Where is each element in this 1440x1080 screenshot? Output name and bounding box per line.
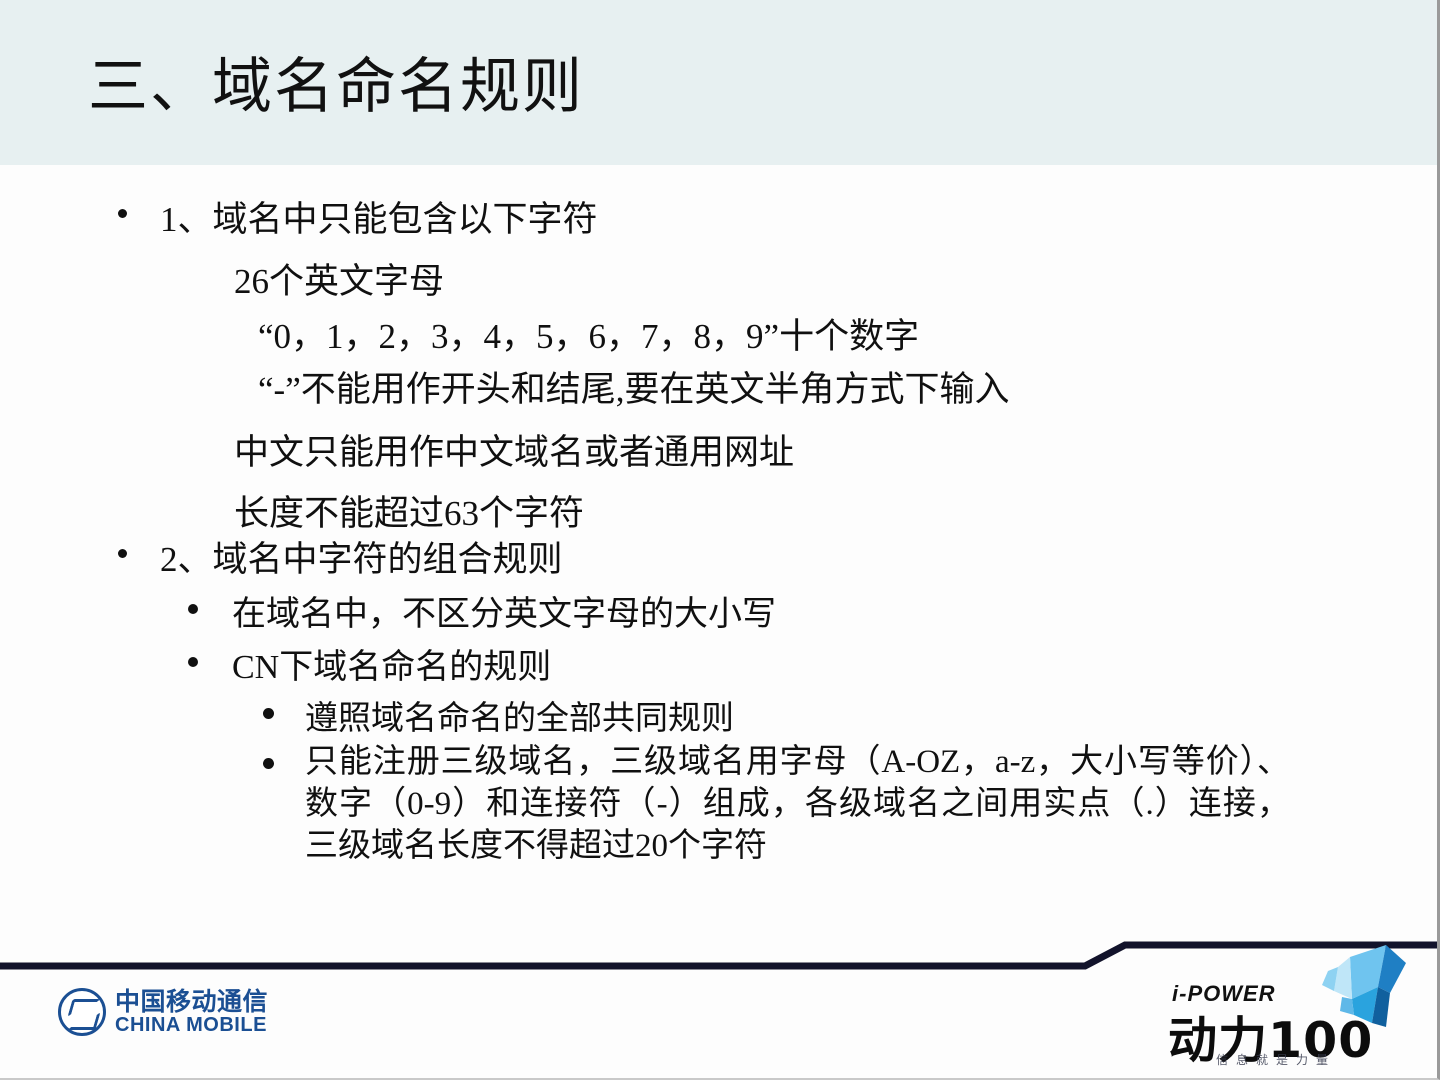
slide: 三、域名命名规则 1、域名中只能包含以下字符 26个英文字母 “0，1，2，3，… (0, 0, 1440, 1080)
ipower-tagline: 信息就是力量 (1216, 1051, 1336, 1068)
bullet-text-common-rules: 遵照域名命名的全部共同规则 (305, 691, 734, 739)
sub-line-hyphen-rule: “-”不能用作开头和结尾,要在英文半角方式下输入 (258, 361, 1009, 412)
china-mobile-wordmark: 中国移动通信 CHINA MOBILE (115, 989, 268, 1035)
ipower-logo: i-POWER 动力100 信息就是力量 (1168, 975, 1428, 1075)
bullet-marker-level1 (118, 549, 127, 558)
bullet-text-third-level-domain: 只能注册三级域名，三级域名用字母（A-OZ，a-z，大小写等价）、数字（0-9）… (305, 741, 1290, 868)
bullet-marker-level3 (263, 708, 274, 719)
bullet-marker-level3 (263, 758, 274, 769)
bullet-marker-level1 (118, 209, 127, 218)
bullet-marker-level2 (188, 604, 198, 614)
slide-body: 1、域名中只能包含以下字符 26个英文字母 “0，1，2，3，4，5，6，7，8… (0, 165, 1440, 930)
sub-line-chinese-usage: 中文只能用作中文域名或者通用网址 (234, 424, 794, 475)
china-mobile-mark-icon (58, 988, 106, 1036)
sub-line-length-63: 长度不能超过63个字符 (234, 485, 584, 536)
china-mobile-name-cn: 中国移动通信 (115, 989, 268, 1015)
bullet-text-case-insensitive: 在域名中，不区分英文字母的大小写 (232, 586, 776, 635)
sub-line-digits: “0，1，2，3，4，5，6，7，8，9”十个数字 (258, 308, 919, 359)
page-title: 三、域名命名规则 (88, 54, 584, 120)
bullet-marker-level2 (188, 657, 198, 667)
china-mobile-name-en: CHINA MOBILE (115, 1015, 268, 1035)
bullet-text-rule-2: 2、域名中字符的组合规则 (160, 531, 563, 582)
china-mobile-logo: 中国移动通信 CHINA MOBILE (58, 988, 268, 1036)
bullet-text-rule-1: 1、域名中只能包含以下字符 (160, 191, 598, 242)
sub-line-26-letters: 26个英文字母 (234, 253, 444, 304)
bullet-text-cn-rules: CN下域名命名的规则 (232, 639, 551, 688)
